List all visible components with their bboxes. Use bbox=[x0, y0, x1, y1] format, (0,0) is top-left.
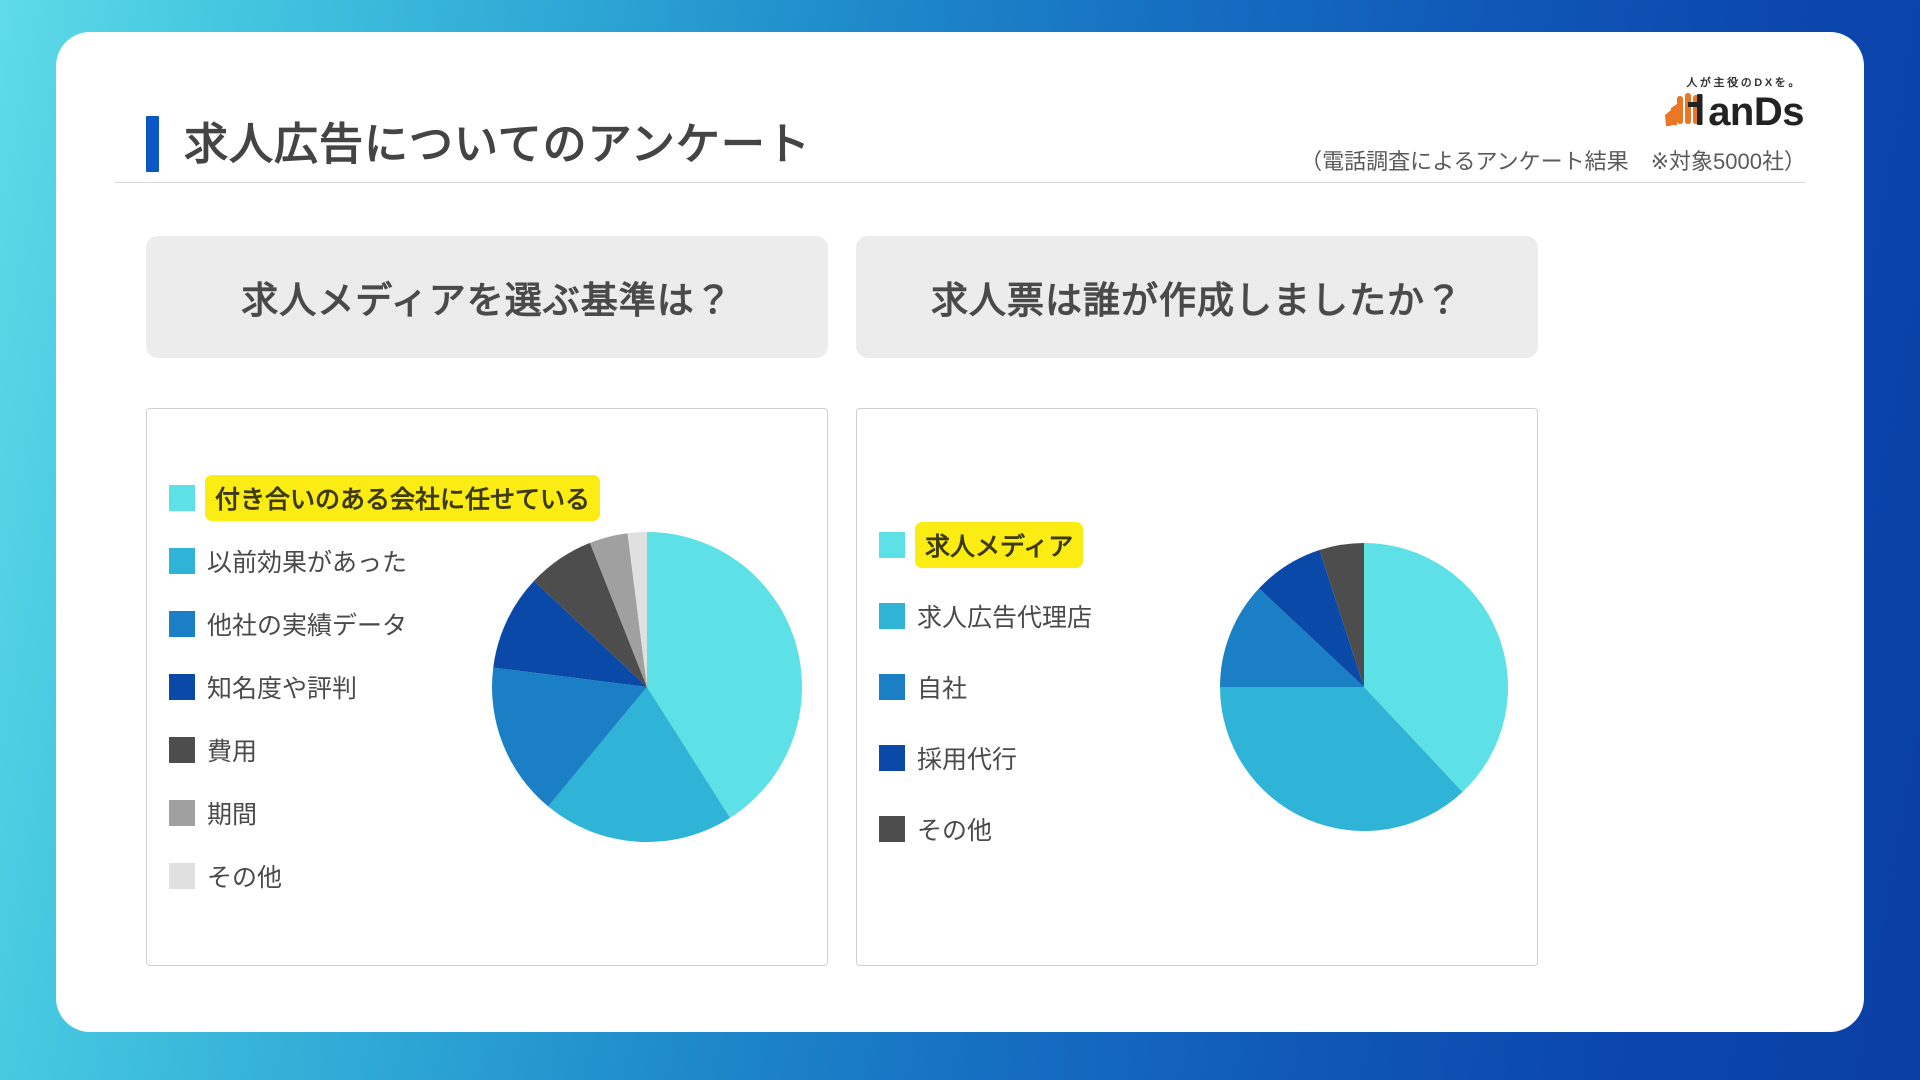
panel-heading-box: 求人メディアを選ぶ基準は？ bbox=[146, 236, 828, 358]
chart-legend: 求人メディア 求人広告代理店 自社 採用代行 bbox=[879, 409, 1092, 965]
legend-swatch-icon bbox=[169, 800, 195, 826]
legend-label: 求人広告代理店 bbox=[917, 596, 1092, 636]
legend-item[interactable]: 自社 bbox=[879, 652, 1092, 723]
legend-swatch-icon bbox=[879, 603, 905, 629]
legend-label: 以前効果があった bbox=[207, 541, 407, 581]
legend-item[interactable]: その他 bbox=[169, 845, 600, 908]
legend-label: 費用 bbox=[207, 730, 257, 770]
brand-logo[interactable]: 人が主役のDXを。 anDs bbox=[1604, 74, 1804, 136]
legend-label: その他 bbox=[207, 856, 282, 896]
legend-label: 期間 bbox=[207, 793, 257, 833]
legend-swatch-icon bbox=[879, 674, 905, 700]
pie-chart-svg bbox=[491, 531, 803, 843]
brand-tagline: 人が主役のDXを。 bbox=[1686, 74, 1802, 90]
page-title: 求人広告についてのアンケート bbox=[184, 108, 811, 172]
panel-heading-box: 求人票は誰が作成しましたか？ bbox=[856, 236, 1538, 358]
legend-swatch-icon bbox=[169, 548, 195, 574]
legend-swatch-icon bbox=[879, 745, 905, 771]
panel-body: 求人メディア 求人広告代理店 自社 採用代行 bbox=[856, 408, 1538, 966]
legend-label: 採用代行 bbox=[917, 738, 1017, 778]
legend-swatch-icon bbox=[169, 737, 195, 763]
legend-swatch-icon bbox=[169, 863, 195, 889]
content-card: 求人広告についてのアンケート 人が主役のDXを。 anDs bbox=[56, 32, 1864, 1032]
slide-background: 求人広告についてのアンケート 人が主役のDXを。 anDs bbox=[0, 0, 1920, 1080]
brand-name: anDs bbox=[1708, 92, 1804, 132]
panel-media-criteria: 求人メディアを選ぶ基準は？ 付き合いのある会社に任せている 以前効果があった 他… bbox=[146, 236, 828, 966]
title-accent-bar bbox=[146, 116, 159, 172]
legend-item[interactable]: 求人広告代理店 bbox=[879, 581, 1092, 652]
legend-item[interactable]: その他 bbox=[879, 794, 1092, 865]
hand-icon bbox=[1663, 92, 1707, 132]
panel-heading-text: 求人メディアを選ぶ基準は？ bbox=[241, 270, 732, 324]
legend-label: 求人メディア bbox=[915, 522, 1083, 568]
pie-chart-media-criteria bbox=[491, 531, 803, 843]
header: 求人広告についてのアンケート 人が主役のDXを。 anDs bbox=[56, 32, 1864, 182]
panel-form-author: 求人票は誰が作成しましたか？ 求人メディア 求人広告代理店 自社 bbox=[856, 236, 1538, 966]
legend-swatch-icon bbox=[169, 674, 195, 700]
legend-swatch-icon bbox=[169, 611, 195, 637]
survey-note: （電話調査によるアンケート結果 ※対象5000社） bbox=[1300, 144, 1806, 176]
legend-swatch-icon bbox=[879, 532, 905, 558]
pie-chart-form-author bbox=[1219, 542, 1509, 832]
pie-chart-svg bbox=[1219, 542, 1509, 832]
legend-label: 付き合いのある会社に任せている bbox=[205, 475, 600, 521]
panel-heading-text: 求人票は誰が作成しましたか？ bbox=[931, 270, 1463, 324]
legend-item[interactable]: 求人メディア bbox=[879, 510, 1092, 581]
legend-item[interactable]: 採用代行 bbox=[879, 723, 1092, 794]
legend-item[interactable]: 付き合いのある会社に任せている bbox=[169, 467, 600, 530]
legend-swatch-icon bbox=[879, 816, 905, 842]
legend-label: 知名度や評判 bbox=[207, 667, 357, 707]
legend-label: その他 bbox=[917, 809, 992, 849]
legend-label: 他社の実績データ bbox=[207, 604, 407, 644]
header-divider bbox=[114, 182, 1806, 183]
legend-label: 自社 bbox=[917, 667, 967, 707]
legend-swatch-icon bbox=[169, 485, 195, 511]
panel-body: 付き合いのある会社に任せている 以前効果があった 他社の実績データ 知名度や評判 bbox=[146, 408, 828, 966]
brand-mark: anDs bbox=[1663, 90, 1804, 134]
